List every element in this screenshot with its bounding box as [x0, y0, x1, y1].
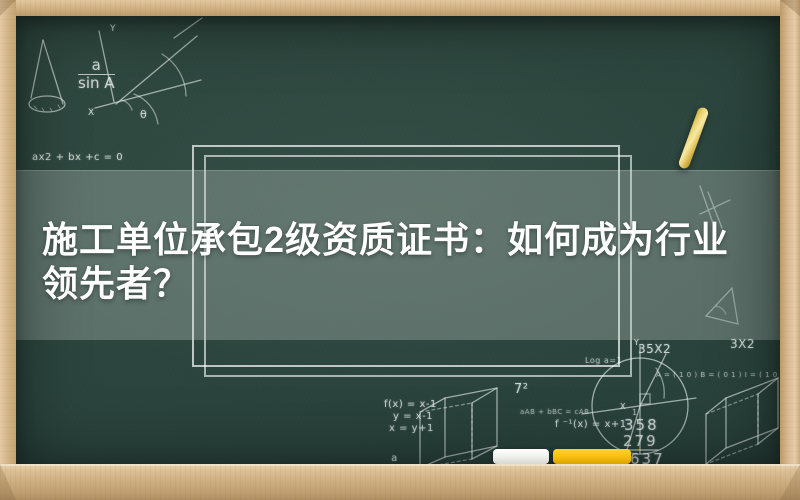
frame-corner-top-right [780, 0, 800, 16]
page-title-line-2: 领先者？ [42, 262, 780, 306]
frame-bottom-tray [0, 464, 800, 500]
tray-chalk-yellow [553, 449, 631, 464]
frame-top-rail [0, 0, 800, 16]
frame-left-rail [0, 0, 16, 500]
page-title-line-1: 施工单位承包2级资质证书：如何成为行业 [42, 219, 729, 260]
page-title: 施工单位承包2级资质证书：如何成为行业 领先者？ [42, 218, 780, 306]
chalkboard-banner: a sin A ax2 + bx +c = 0 Y X θ f(x) = x-1… [0, 0, 800, 500]
frame-corner-bottom-left [0, 464, 16, 500]
frame-right-rail [780, 0, 800, 500]
wood-grain-texture [780, 0, 800, 500]
chalkboard-surface: a sin A ax2 + bx +c = 0 Y X θ f(x) = x-1… [16, 16, 780, 464]
frame-corner-bottom-right [780, 464, 800, 500]
wood-grain-texture [0, 464, 800, 500]
wood-grain-texture [0, 0, 16, 500]
tray-chalk-white [493, 449, 549, 464]
wood-grain-texture [0, 0, 800, 16]
frame-corner-top-left [0, 0, 16, 16]
